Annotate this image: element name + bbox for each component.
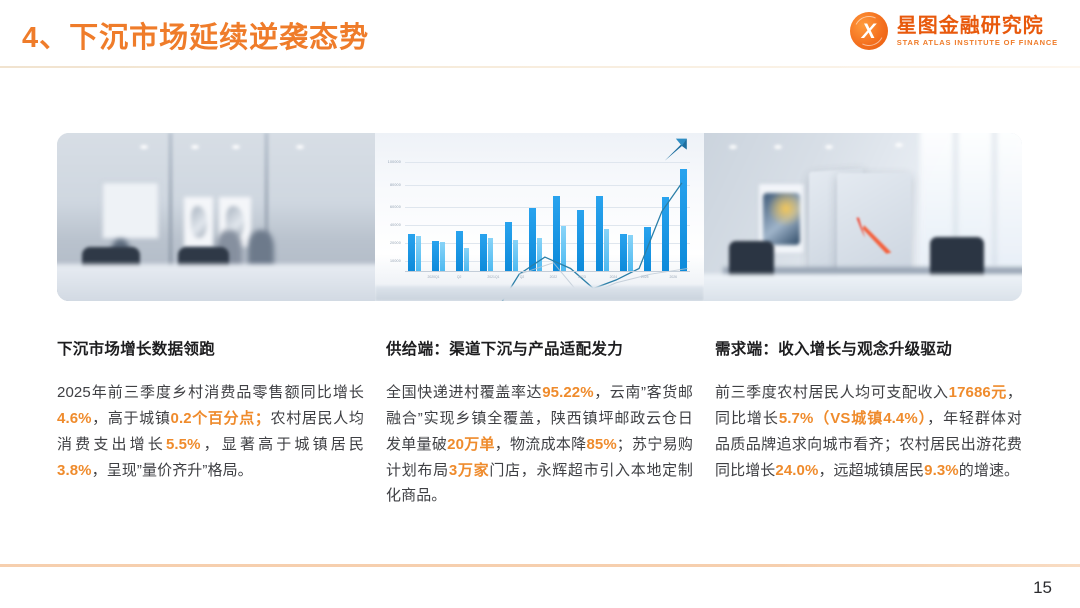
chart-y-tick: 40000 bbox=[390, 223, 401, 227]
column-3-heading: 需求端：收入增长与观念升级驱动 bbox=[715, 340, 1022, 360]
chart-foreground-shelf bbox=[375, 286, 703, 301]
chart-x-tick: 2023 bbox=[578, 275, 586, 279]
ceiling-light-icon bbox=[825, 145, 833, 149]
chart-bar bbox=[604, 229, 609, 271]
banner-image: 100000 80000 60000 40000 20000 10000 bbox=[57, 133, 1022, 301]
body-text: ，物流成本降 bbox=[495, 436, 587, 453]
whiteboard bbox=[102, 182, 159, 239]
chart-up-arrow-icon bbox=[653, 135, 699, 164]
ceiling-light-icon bbox=[191, 145, 199, 149]
chart-bar-group bbox=[456, 160, 469, 272]
column-3: 需求端：收入增长与观念升级驱动 前三季度农村居民人均可支配收入17686元，同比… bbox=[715, 340, 1022, 509]
chart-bar bbox=[513, 240, 518, 271]
chart-bar-group bbox=[644, 160, 651, 272]
chart-bar bbox=[628, 235, 633, 272]
body-text: ，显著高于城镇居民 bbox=[201, 436, 364, 453]
column-1: 下沉市场增长数据领跑 2025年前三季度乡村消费品零售额同比增长4.6%，高于城… bbox=[57, 340, 364, 509]
logo-x-glyph: X bbox=[850, 12, 888, 50]
wall-poster bbox=[184, 197, 213, 247]
chart-bar bbox=[561, 226, 566, 272]
ceiling-light-icon bbox=[729, 145, 737, 149]
red-arrow-icon bbox=[849, 204, 899, 266]
chart-bar bbox=[577, 210, 584, 271]
banner-right-office-scene bbox=[704, 133, 1022, 301]
chart-bars bbox=[405, 160, 690, 272]
chart-bar bbox=[480, 234, 487, 272]
highlight-text: 20万单 bbox=[447, 436, 495, 453]
chart-bar bbox=[464, 248, 469, 271]
column-2-heading: 供给端：渠道下沉与产品适配发力 bbox=[386, 340, 693, 360]
brand-logo: X 星图金融研究院 STAR ATLAS INSTITUTE OF FINANC… bbox=[850, 12, 1058, 50]
chart-bar bbox=[432, 241, 439, 271]
content-columns: 下沉市场增长数据领跑 2025年前三季度乡村消费品零售额同比增长4.6%，高于城… bbox=[57, 340, 1022, 509]
column-2-body: 全国快递进村覆盖率达95.22%，云南”客货邮融合”实现乡镇全覆盖，陕西镇坪邮政… bbox=[386, 380, 693, 509]
chart-bar bbox=[416, 236, 421, 272]
chart-bar-group bbox=[662, 160, 669, 272]
body-text: 前三季度农村居民人均可支配收入 bbox=[715, 384, 949, 401]
chart-bar bbox=[680, 169, 687, 272]
chart-bar bbox=[620, 234, 627, 272]
chart-x-tick: Q2 bbox=[520, 275, 525, 279]
ceiling-light-icon bbox=[895, 143, 903, 147]
chart-bar-group bbox=[620, 160, 633, 272]
chart-bar-group bbox=[680, 160, 687, 272]
chart-bar bbox=[644, 227, 651, 272]
chart-bar bbox=[408, 234, 415, 272]
chart-y-tick: 100000 bbox=[388, 160, 401, 164]
highlight-text: 95.22% bbox=[542, 384, 593, 401]
chart-bar bbox=[662, 197, 669, 272]
banner-center-chart: 100000 80000 60000 40000 20000 10000 bbox=[375, 133, 703, 301]
page-title: 4、下沉市场延续逆袭态势 bbox=[22, 14, 369, 56]
chart-bar-group bbox=[577, 160, 584, 272]
highlight-text: 5.7%（VS城镇4.4%） bbox=[779, 410, 927, 427]
footer-divider bbox=[0, 564, 1080, 567]
ceiling-light-icon bbox=[296, 145, 304, 149]
body-text: ，呈现”量价齐升”格局。 bbox=[92, 462, 253, 479]
page-number: 15 bbox=[1033, 578, 1052, 598]
ceiling-light-icon bbox=[232, 145, 240, 149]
highlight-text: 24.0% bbox=[775, 462, 818, 479]
banner-left-office-scene bbox=[57, 133, 375, 301]
page-header: 4、下沉市场延续逆袭态势 X 星图金融研究院 STAR ATLAS INSTIT… bbox=[0, 0, 1080, 68]
chart-y-tick: 60000 bbox=[390, 205, 401, 209]
ceiling-light-icon bbox=[140, 145, 148, 149]
chart-bar-group bbox=[529, 160, 542, 272]
body-text: ，高于城镇 bbox=[92, 410, 171, 427]
highlight-text: 9.3% bbox=[924, 462, 959, 479]
window-mullion bbox=[993, 133, 996, 267]
chart-x-tick: 2026 bbox=[670, 275, 678, 279]
highlight-text: 5.5% bbox=[166, 436, 201, 453]
highlight-text: 4.6% bbox=[57, 410, 92, 427]
chart-bar bbox=[537, 238, 542, 271]
highlight-text: 17686元 bbox=[949, 384, 1007, 401]
chart-x-tick: 2021Q1 bbox=[487, 275, 499, 279]
chart-bar bbox=[505, 222, 512, 271]
foreground-table bbox=[704, 274, 1022, 301]
chart-x-tick: Q2 bbox=[457, 275, 462, 279]
highlight-text: 3万家 bbox=[449, 462, 489, 479]
highlight-text: 0.2个百分点； bbox=[171, 410, 270, 427]
ceiling-light-icon bbox=[774, 145, 782, 149]
column-2: 供给端：渠道下沉与产品适配发力 全国快递进村覆盖率达95.22%，云南”客货邮融… bbox=[386, 340, 693, 509]
body-text: 的增速。 bbox=[959, 462, 1019, 479]
column-3-body: 前三季度农村居民人均可支配收入17686元，同比增长5.7%（VS城镇4.4%）… bbox=[715, 380, 1022, 483]
highlight-text: 3.8% bbox=[57, 462, 92, 479]
chart-x-tick: 2022 bbox=[550, 275, 558, 279]
chart-y-tick: 80000 bbox=[390, 183, 401, 187]
chart-x-tick: 2025 bbox=[641, 275, 649, 279]
chart-bar bbox=[553, 196, 560, 272]
column-1-body: 2025年前三季度乡村消费品零售额同比增长4.6%，高于城镇0.2个百分点；农村… bbox=[57, 380, 364, 483]
chart-y-tick: 10000 bbox=[390, 259, 401, 263]
chart-plot-area: 100000 80000 60000 40000 20000 10000 bbox=[405, 160, 690, 273]
chart-bar-group bbox=[553, 160, 566, 272]
chart-x-axis: 2020Q1 Q2 2021Q1 Q2 2022 2023 2024 2025 … bbox=[405, 271, 690, 272]
chart-x-tick: 2024 bbox=[610, 275, 618, 279]
chart-x-tick: 2020Q1 bbox=[427, 275, 439, 279]
chart-bar bbox=[456, 231, 463, 271]
body-text: 2025年前三季度乡村消费品零售额同比增长 bbox=[57, 384, 364, 401]
logo-text-block: 星图金融研究院 STAR ATLAS INSTITUTE OF FINANCE bbox=[897, 16, 1058, 47]
body-text: ，远超城镇居民 bbox=[818, 462, 924, 479]
chart-y-tick: 20000 bbox=[390, 241, 401, 245]
chart-bar-group bbox=[596, 160, 609, 272]
chart-bar bbox=[488, 238, 493, 271]
column-1-heading: 下沉市场增长数据领跑 bbox=[57, 340, 364, 360]
star-atlas-mark-icon: X bbox=[850, 12, 888, 50]
chart-bar bbox=[440, 242, 445, 271]
header-divider bbox=[0, 66, 1080, 68]
foreground-table bbox=[57, 264, 375, 301]
chart-bar-group bbox=[505, 160, 518, 272]
body-text: 全国快递进村覆盖率达 bbox=[386, 384, 542, 401]
logo-name-en: STAR ATLAS INSTITUTE OF FINANCE bbox=[897, 39, 1058, 47]
chart-bar bbox=[596, 196, 603, 272]
chart-bar bbox=[529, 208, 536, 272]
chart-bar-group bbox=[408, 160, 421, 272]
logo-name-cn: 星图金融研究院 bbox=[897, 16, 1058, 36]
chart-bar-group bbox=[480, 160, 493, 272]
highlight-text: 85% bbox=[586, 436, 616, 453]
chart-bar-group bbox=[432, 160, 445, 272]
